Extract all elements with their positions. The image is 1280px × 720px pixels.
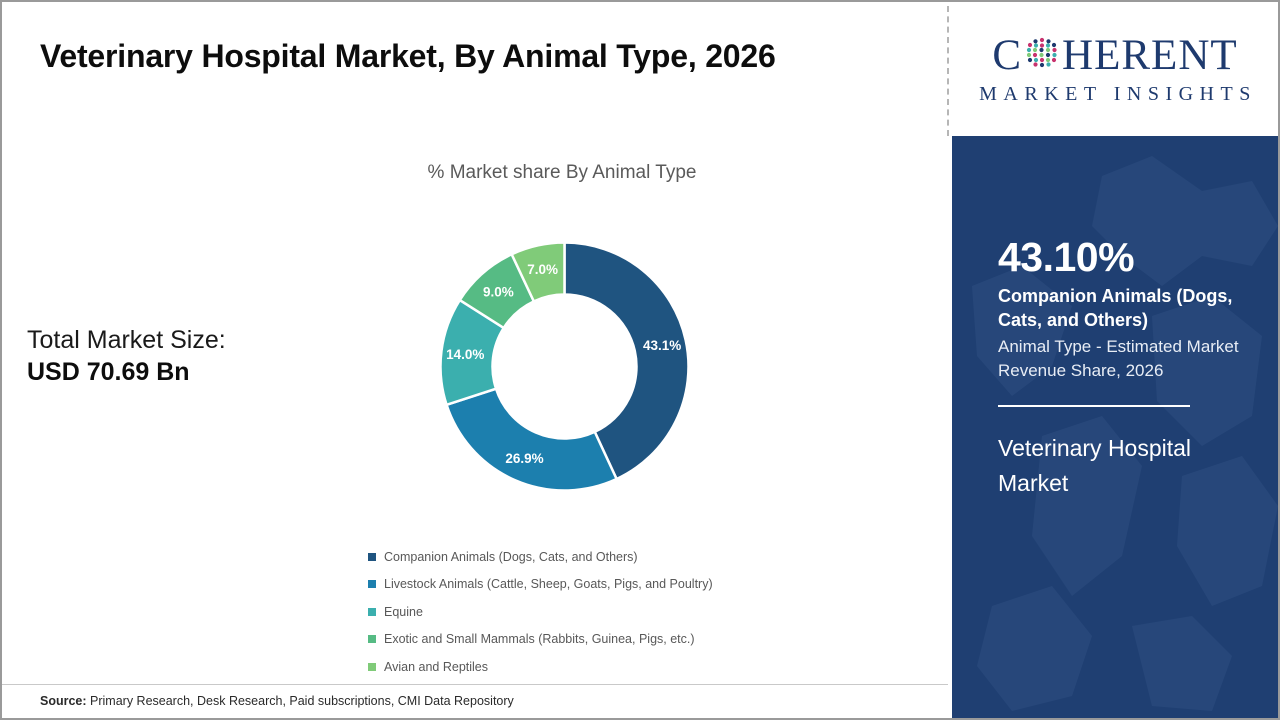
highlight-market-name: Veterinary Hospital Market bbox=[998, 431, 1260, 502]
donut-slice-label: 26.9% bbox=[505, 451, 543, 466]
legend-label: Livestock Animals (Cattle, Sheep, Goats,… bbox=[384, 577, 713, 591]
legend-item[interactable]: Livestock Animals (Cattle, Sheep, Goats,… bbox=[368, 571, 928, 599]
donut-slice-label: 43.1% bbox=[643, 338, 681, 353]
legend-item[interactable]: Companion Animals (Dogs, Cats, and Other… bbox=[368, 543, 928, 571]
chart-legend: Companion Animals (Dogs, Cats, and Other… bbox=[368, 543, 928, 681]
total-market-size: Total Market Size: USD 70.69 Bn bbox=[27, 324, 357, 388]
donut-chart: 43.1%26.9%14.0%9.0%7.0% bbox=[427, 214, 702, 519]
donut-chart-svg: 43.1%26.9%14.0%9.0%7.0% bbox=[427, 214, 702, 519]
highlight-segment-name: Companion Animals (Dogs, Cats, and Other… bbox=[998, 285, 1260, 333]
donut-slice-label: 14.0% bbox=[446, 347, 484, 362]
highlight-percent: 43.10% bbox=[998, 236, 1260, 279]
logo-wordmark-top: C bbox=[992, 32, 1237, 78]
highlight-divider bbox=[998, 405, 1190, 407]
highlight-description: Animal Type - Estimated Market Revenue S… bbox=[998, 335, 1260, 384]
logo-letter-c: C bbox=[992, 34, 1022, 77]
donut-slices bbox=[441, 243, 689, 491]
source-text: Primary Research, Desk Research, Paid su… bbox=[87, 694, 514, 708]
chart-subtitle: % Market share By Animal Type bbox=[182, 162, 942, 184]
infographic-canvas: Veterinary Hospital Market, By Animal Ty… bbox=[0, 0, 1280, 720]
left-content-area: Veterinary Hospital Market, By Animal Ty… bbox=[2, 2, 948, 718]
legend-label: Equine bbox=[384, 605, 423, 619]
source-line: Source: Primary Research, Desk Research,… bbox=[40, 694, 514, 708]
donut-slice-label: 9.0% bbox=[483, 284, 514, 299]
legend-swatch-icon bbox=[368, 580, 376, 588]
legend-swatch-icon bbox=[368, 635, 376, 643]
page-title: Veterinary Hospital Market, By Animal Ty… bbox=[40, 32, 880, 82]
vertical-dashed-divider bbox=[947, 6, 949, 136]
source-label: Source: bbox=[40, 694, 87, 708]
logo-wordmark-rest: HERENT bbox=[1062, 34, 1238, 77]
donut-slice-label: 7.0% bbox=[527, 262, 558, 277]
highlight-panel-content: 43.10% Companion Animals (Dogs, Cats, an… bbox=[998, 236, 1260, 502]
highlight-panel: 43.10% Companion Animals (Dogs, Cats, an… bbox=[952, 136, 1278, 718]
legend-swatch-icon bbox=[368, 553, 376, 561]
legend-swatch-icon bbox=[368, 663, 376, 671]
legend-item[interactable]: Exotic and Small Mammals (Rabbits, Guine… bbox=[368, 626, 928, 654]
legend-label: Exotic and Small Mammals (Rabbits, Guine… bbox=[384, 632, 695, 646]
legend-item[interactable]: Equine bbox=[368, 598, 928, 626]
legend-item[interactable]: Avian and Reptiles bbox=[368, 653, 928, 681]
logo-subtitle: MARKET INSIGHTS bbox=[973, 83, 1257, 106]
total-market-size-value: USD 70.69 Bn bbox=[27, 356, 357, 388]
legend-swatch-icon bbox=[368, 608, 376, 616]
total-market-size-label: Total Market Size: bbox=[27, 324, 357, 356]
donut-slice bbox=[447, 389, 617, 491]
dotted-globe-icon bbox=[1023, 34, 1061, 77]
footer-divider bbox=[2, 684, 948, 685]
legend-label: Companion Animals (Dogs, Cats, and Other… bbox=[384, 550, 638, 564]
legend-label: Avian and Reptiles bbox=[384, 660, 488, 674]
brand-logo: C bbox=[952, 2, 1278, 136]
